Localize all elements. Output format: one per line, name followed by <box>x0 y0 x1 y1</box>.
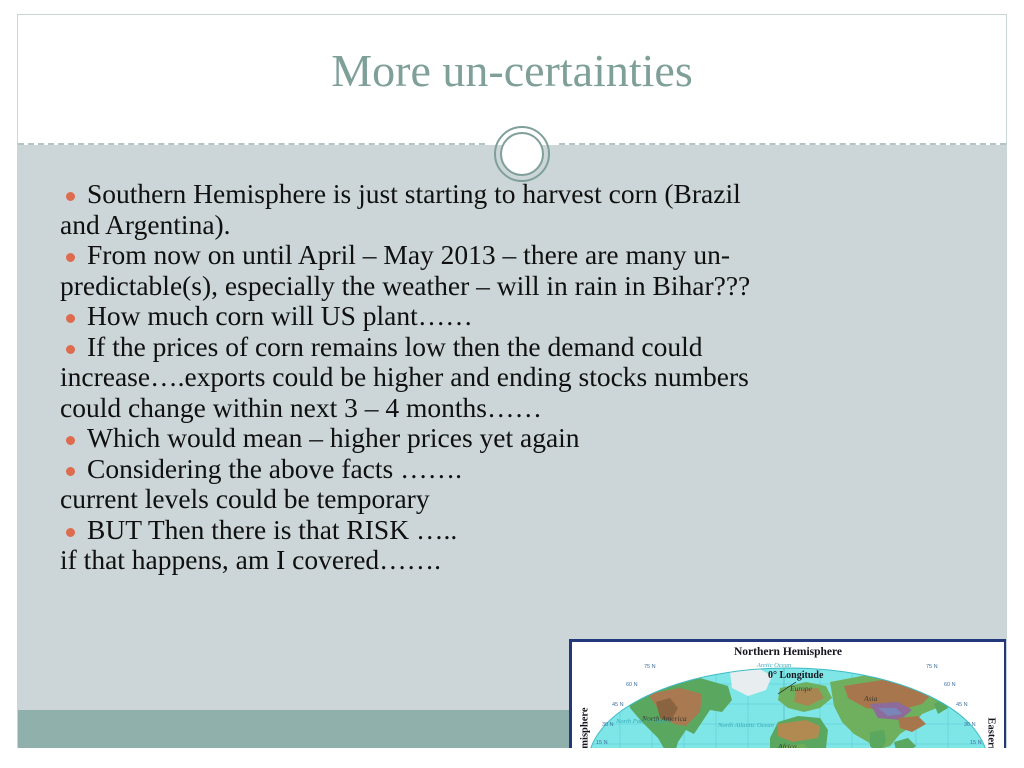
list-item-continuation: predictable(s), especially the weather –… <box>32 271 992 302</box>
bullet-dot-icon <box>66 345 75 354</box>
map-label-asia: Asia <box>864 694 877 703</box>
bullet-list: Southern Hemisphere is just starting to … <box>32 179 992 576</box>
map-label-north-pacific-ocean: North Pacific Ocean <box>616 718 652 726</box>
page-title: More un-certainties <box>18 45 1006 97</box>
list-item-text: Southern Hemisphere is just starting to … <box>87 178 741 209</box>
plain-text-line: current levels could be temporary <box>32 484 992 515</box>
map-tick-lat: 60 N <box>626 682 638 688</box>
slide: More un-certainties Southern Hemisphere … <box>17 14 1007 748</box>
plain-text: current levels could be temporary <box>60 483 430 514</box>
plain-text-line: if that happens, am I covered……. <box>32 545 992 576</box>
list-item-text: and Argentina). <box>60 209 231 240</box>
list-item: From now on until April – May 2013 – the… <box>32 240 992 271</box>
map-tick-lat: 60 N <box>944 682 956 688</box>
list-item: How much corn will US plant…… <box>32 301 992 332</box>
map-label-northern-hemisphere: Northern Hemisphere <box>572 646 1004 658</box>
map-annotation-longitude: 0° Longitude <box>768 670 823 681</box>
list-item: BUT Then there is that RISK ….. <box>32 515 992 546</box>
list-item-text: Considering the above facts ……. <box>87 453 462 484</box>
list-item-text: How much corn will US plant…… <box>87 300 473 331</box>
map-tick-lat: 75 N <box>926 664 938 670</box>
map-tick-lat: 15 N <box>596 740 608 746</box>
map-canvas: Northern Hemisphere Southern Hemisphere … <box>572 642 1004 748</box>
bullet-dot-icon <box>66 436 75 445</box>
list-item: If the prices of corn remains low then t… <box>32 332 992 363</box>
bullet-dot-icon <box>66 314 75 323</box>
map-label-north-atlantic-ocean: North Atlantic Ocean <box>718 722 754 730</box>
list-item-text: BUT Then there is that RISK ….. <box>87 514 457 545</box>
list-item-text: increase….exports could be higher and en… <box>60 361 749 392</box>
bullet-dot-icon <box>66 253 75 262</box>
list-item-text: could change within next 3 – 4 months…… <box>60 392 542 423</box>
map-tick-lat: 75 N <box>644 664 656 670</box>
ring-inner-decoration <box>500 132 544 176</box>
list-item: Southern Hemisphere is just starting to … <box>32 179 992 210</box>
list-item-text: Which would mean – higher prices yet aga… <box>87 422 580 453</box>
map-tick-lat: 45 N <box>612 702 624 708</box>
bullet-dot-icon <box>66 467 75 476</box>
list-item: Considering the above facts ……. <box>32 454 992 485</box>
map-tick-lat: 30 N <box>602 722 614 728</box>
bullet-dot-icon <box>66 192 75 201</box>
world-map-image: Northern Hemisphere Southern Hemisphere … <box>569 639 1007 748</box>
map-label-africa: Africa <box>778 742 797 748</box>
map-tick-lat: 15 N <box>970 740 982 746</box>
map-label-europe: Europe <box>790 684 812 693</box>
list-item-continuation: could change within next 3 – 4 months…… <box>32 393 992 424</box>
list-item-continuation: increase….exports could be higher and en… <box>32 362 992 393</box>
map-label-arctic-ocean: Arctic Ocean <box>754 662 794 670</box>
plain-text: if that happens, am I covered……. <box>60 544 441 575</box>
list-item-text: predictable(s), especially the weather –… <box>60 270 750 301</box>
bullet-dot-icon <box>66 528 75 537</box>
map-tick-lat: 30 N <box>964 722 976 728</box>
list-item: Which would mean – higher prices yet aga… <box>32 423 992 454</box>
list-item-continuation: and Argentina). <box>32 210 992 241</box>
list-item-text: If the prices of corn remains low then t… <box>87 331 703 362</box>
slide-body: Southern Hemisphere is just starting to … <box>18 145 1006 748</box>
list-item-text: From now on until April – May 2013 – the… <box>87 239 730 270</box>
map-tick-lat: 45 N <box>956 702 968 708</box>
